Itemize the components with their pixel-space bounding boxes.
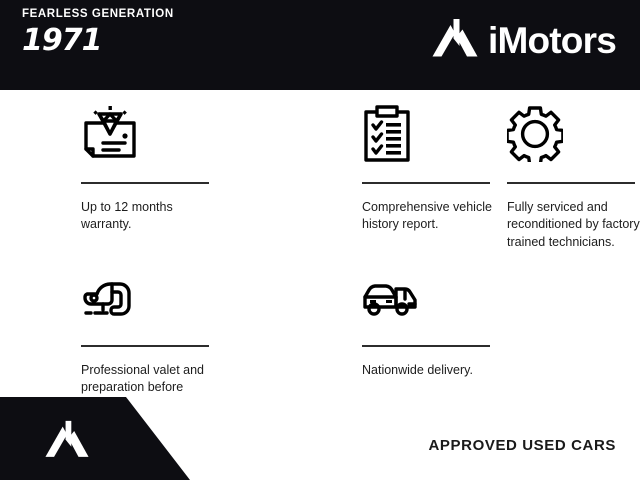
feature-text-serviced: Fully serviced and reconditioned by fact… bbox=[507, 199, 640, 251]
fearless-generation-brand: FEARLESS GENERATION 1971 bbox=[22, 9, 174, 56]
feature-item-delivery: Nationwide delivery. bbox=[354, 263, 495, 379]
feature-divider bbox=[81, 182, 209, 184]
feature-text-delivery: Nationwide delivery. bbox=[362, 362, 495, 379]
warranty-certificate-icon bbox=[81, 100, 214, 168]
feature-divider bbox=[507, 182, 635, 184]
footer-background-shape bbox=[0, 397, 190, 480]
feature-text-history-report: Comprehensive vehicle history report. bbox=[362, 199, 495, 234]
feature-divider bbox=[81, 345, 209, 347]
imotors-wordmark: iMotors bbox=[488, 22, 616, 59]
gear-cog-icon bbox=[507, 100, 640, 168]
feature-divider bbox=[362, 345, 490, 347]
page-header: FEARLESS GENERATION 1971 iMotors bbox=[0, 0, 640, 90]
feature-text-warranty: Up to 12 months warranty. bbox=[81, 199, 214, 234]
header-year-logo: 1971 bbox=[22, 26, 174, 56]
feature-item-serviced: Fully serviced and reconditioned by fact… bbox=[499, 100, 640, 251]
page-footer: APPROVED USED CARS bbox=[0, 385, 640, 480]
footer-caption: APPROVED USED CARS bbox=[429, 437, 617, 454]
vacuum-cleaner-icon bbox=[81, 263, 214, 331]
feature-item-history-report: Comprehensive vehicle history report. bbox=[354, 100, 495, 234]
feature-item-warranty: Up to 12 months warranty. bbox=[5, 100, 179, 234]
features-row-1: Up to 12 months warranty. bbox=[0, 100, 640, 251]
imotors-chevron-icon bbox=[44, 418, 90, 464]
clipboard-checklist-icon bbox=[362, 100, 495, 168]
imotors-brand: iMotors bbox=[431, 16, 616, 64]
feature-divider bbox=[362, 182, 490, 184]
features-section: Up to 12 months warranty. bbox=[0, 100, 640, 414]
car-transporter-icon bbox=[362, 263, 495, 331]
imotors-chevron-icon bbox=[431, 16, 479, 64]
header-tagline: FEARLESS GENERATION bbox=[22, 9, 174, 21]
